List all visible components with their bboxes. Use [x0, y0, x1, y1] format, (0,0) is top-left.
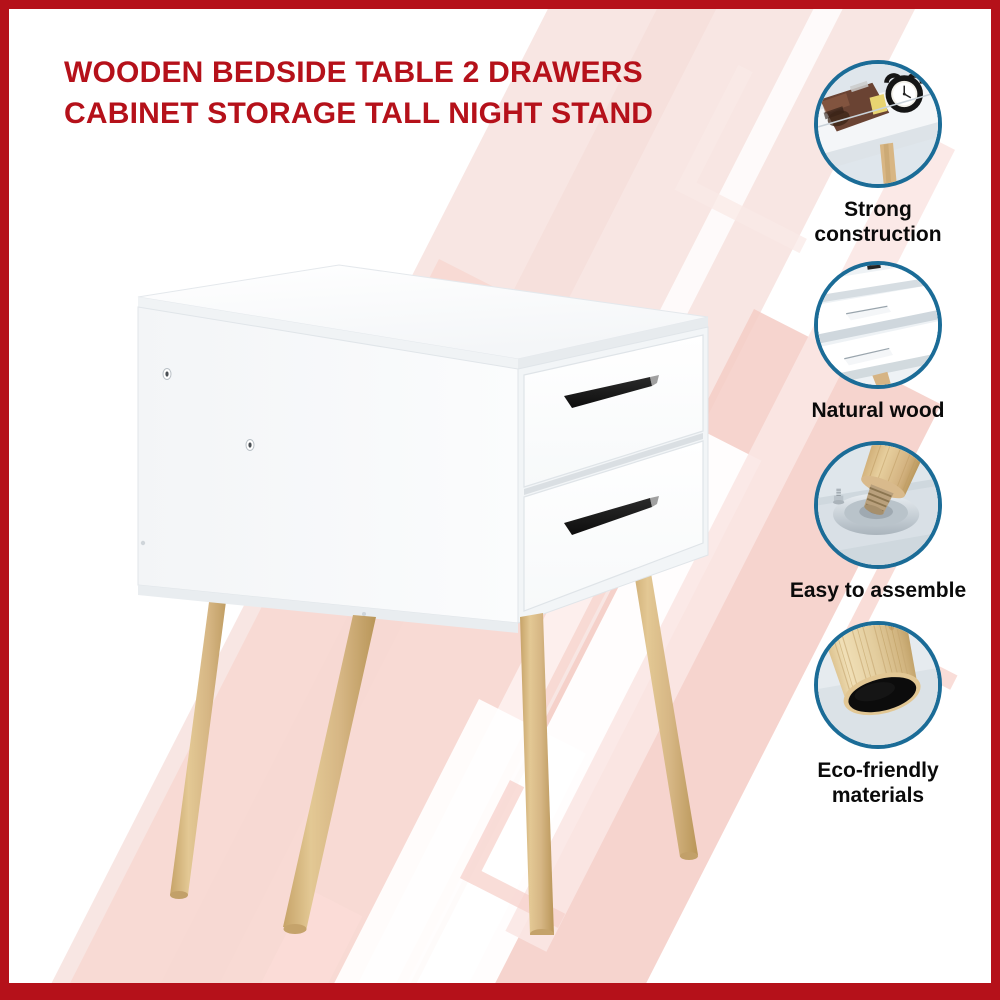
- wooden-leg-end-grain-closeup-icon: [814, 621, 942, 749]
- page-title: Wooden Bedside Table 2 Drawers Cabinet S…: [64, 52, 674, 134]
- border-left: [0, 0, 9, 1000]
- leg-screw-and-mounting-plate-closeup-icon: [814, 441, 942, 569]
- tabletop-with-clock-and-book-closeup-icon: [814, 60, 942, 188]
- feature-list: Strong construction: [772, 60, 984, 818]
- feature-eco-friendly-materials: Eco-friendly materials: [772, 621, 984, 808]
- feature-label: Natural wood: [811, 398, 944, 423]
- feature-label: Strong construction: [778, 197, 978, 247]
- product-image: [120, 255, 720, 935]
- feature-strong-construction: Strong construction: [772, 60, 984, 247]
- cabinet-body: [138, 265, 708, 633]
- feature-label: Eco-friendly materials: [778, 758, 978, 808]
- feature-natural-wood: Natural wood: [772, 261, 984, 423]
- feature-easy-to-assemble: Easy to assemble: [772, 441, 984, 603]
- table-legs-front: [283, 613, 554, 935]
- border-bottom: [0, 983, 1000, 1000]
- border-top: [0, 0, 1000, 9]
- feature-label: Easy to assemble: [790, 578, 966, 603]
- product-poster: Wooden Bedside Table 2 Drawers Cabinet S…: [0, 0, 1000, 1000]
- border-right: [991, 0, 1000, 1000]
- open-drawer-fronts-closeup-icon: [814, 261, 942, 389]
